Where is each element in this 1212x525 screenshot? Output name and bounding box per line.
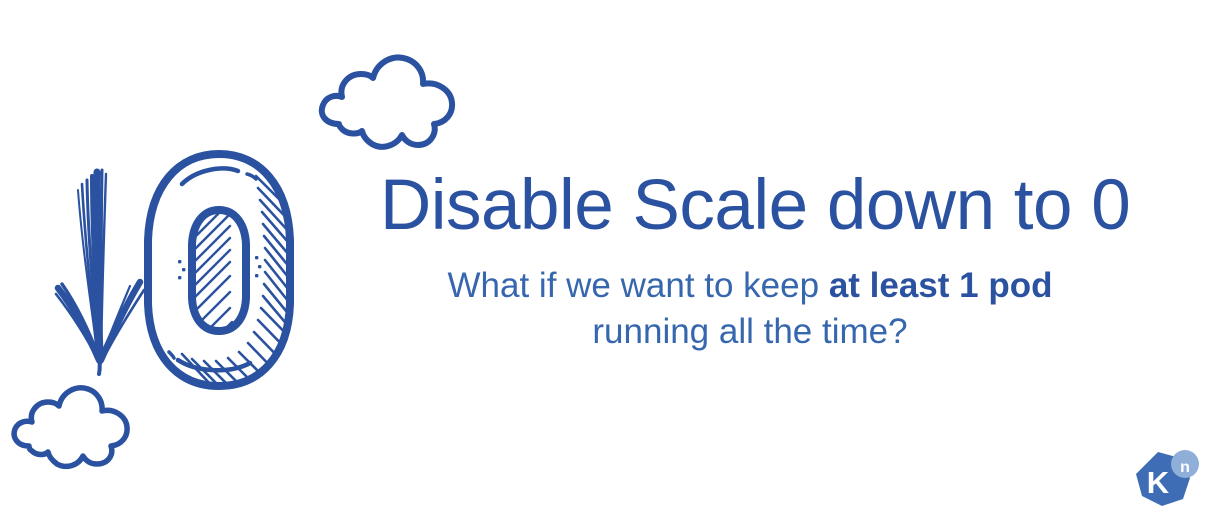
page-subtitle: What if we want to keep at least 1 pod r…: [380, 263, 1120, 356]
slide-canvas: Disable Scale down to 0 What if we want …: [0, 0, 1212, 525]
cloud-icon: [8, 383, 136, 471]
page-title: Disable Scale down to 0: [380, 168, 1120, 245]
text-block: Disable Scale down to 0 What if we want …: [380, 168, 1120, 356]
subtitle-lead: What if we want to keep: [448, 266, 829, 305]
subtitle-emphasis: at least 1 pod: [829, 266, 1053, 305]
brand-logo: K n: [1128, 448, 1206, 518]
subtitle-tail: running all the time?: [592, 312, 907, 351]
logo-letter-n: n: [1180, 459, 1190, 476]
cloud-icon: [315, 52, 463, 152]
zero-figure-icon: [138, 148, 300, 392]
logo-letter-k: K: [1147, 465, 1170, 500]
